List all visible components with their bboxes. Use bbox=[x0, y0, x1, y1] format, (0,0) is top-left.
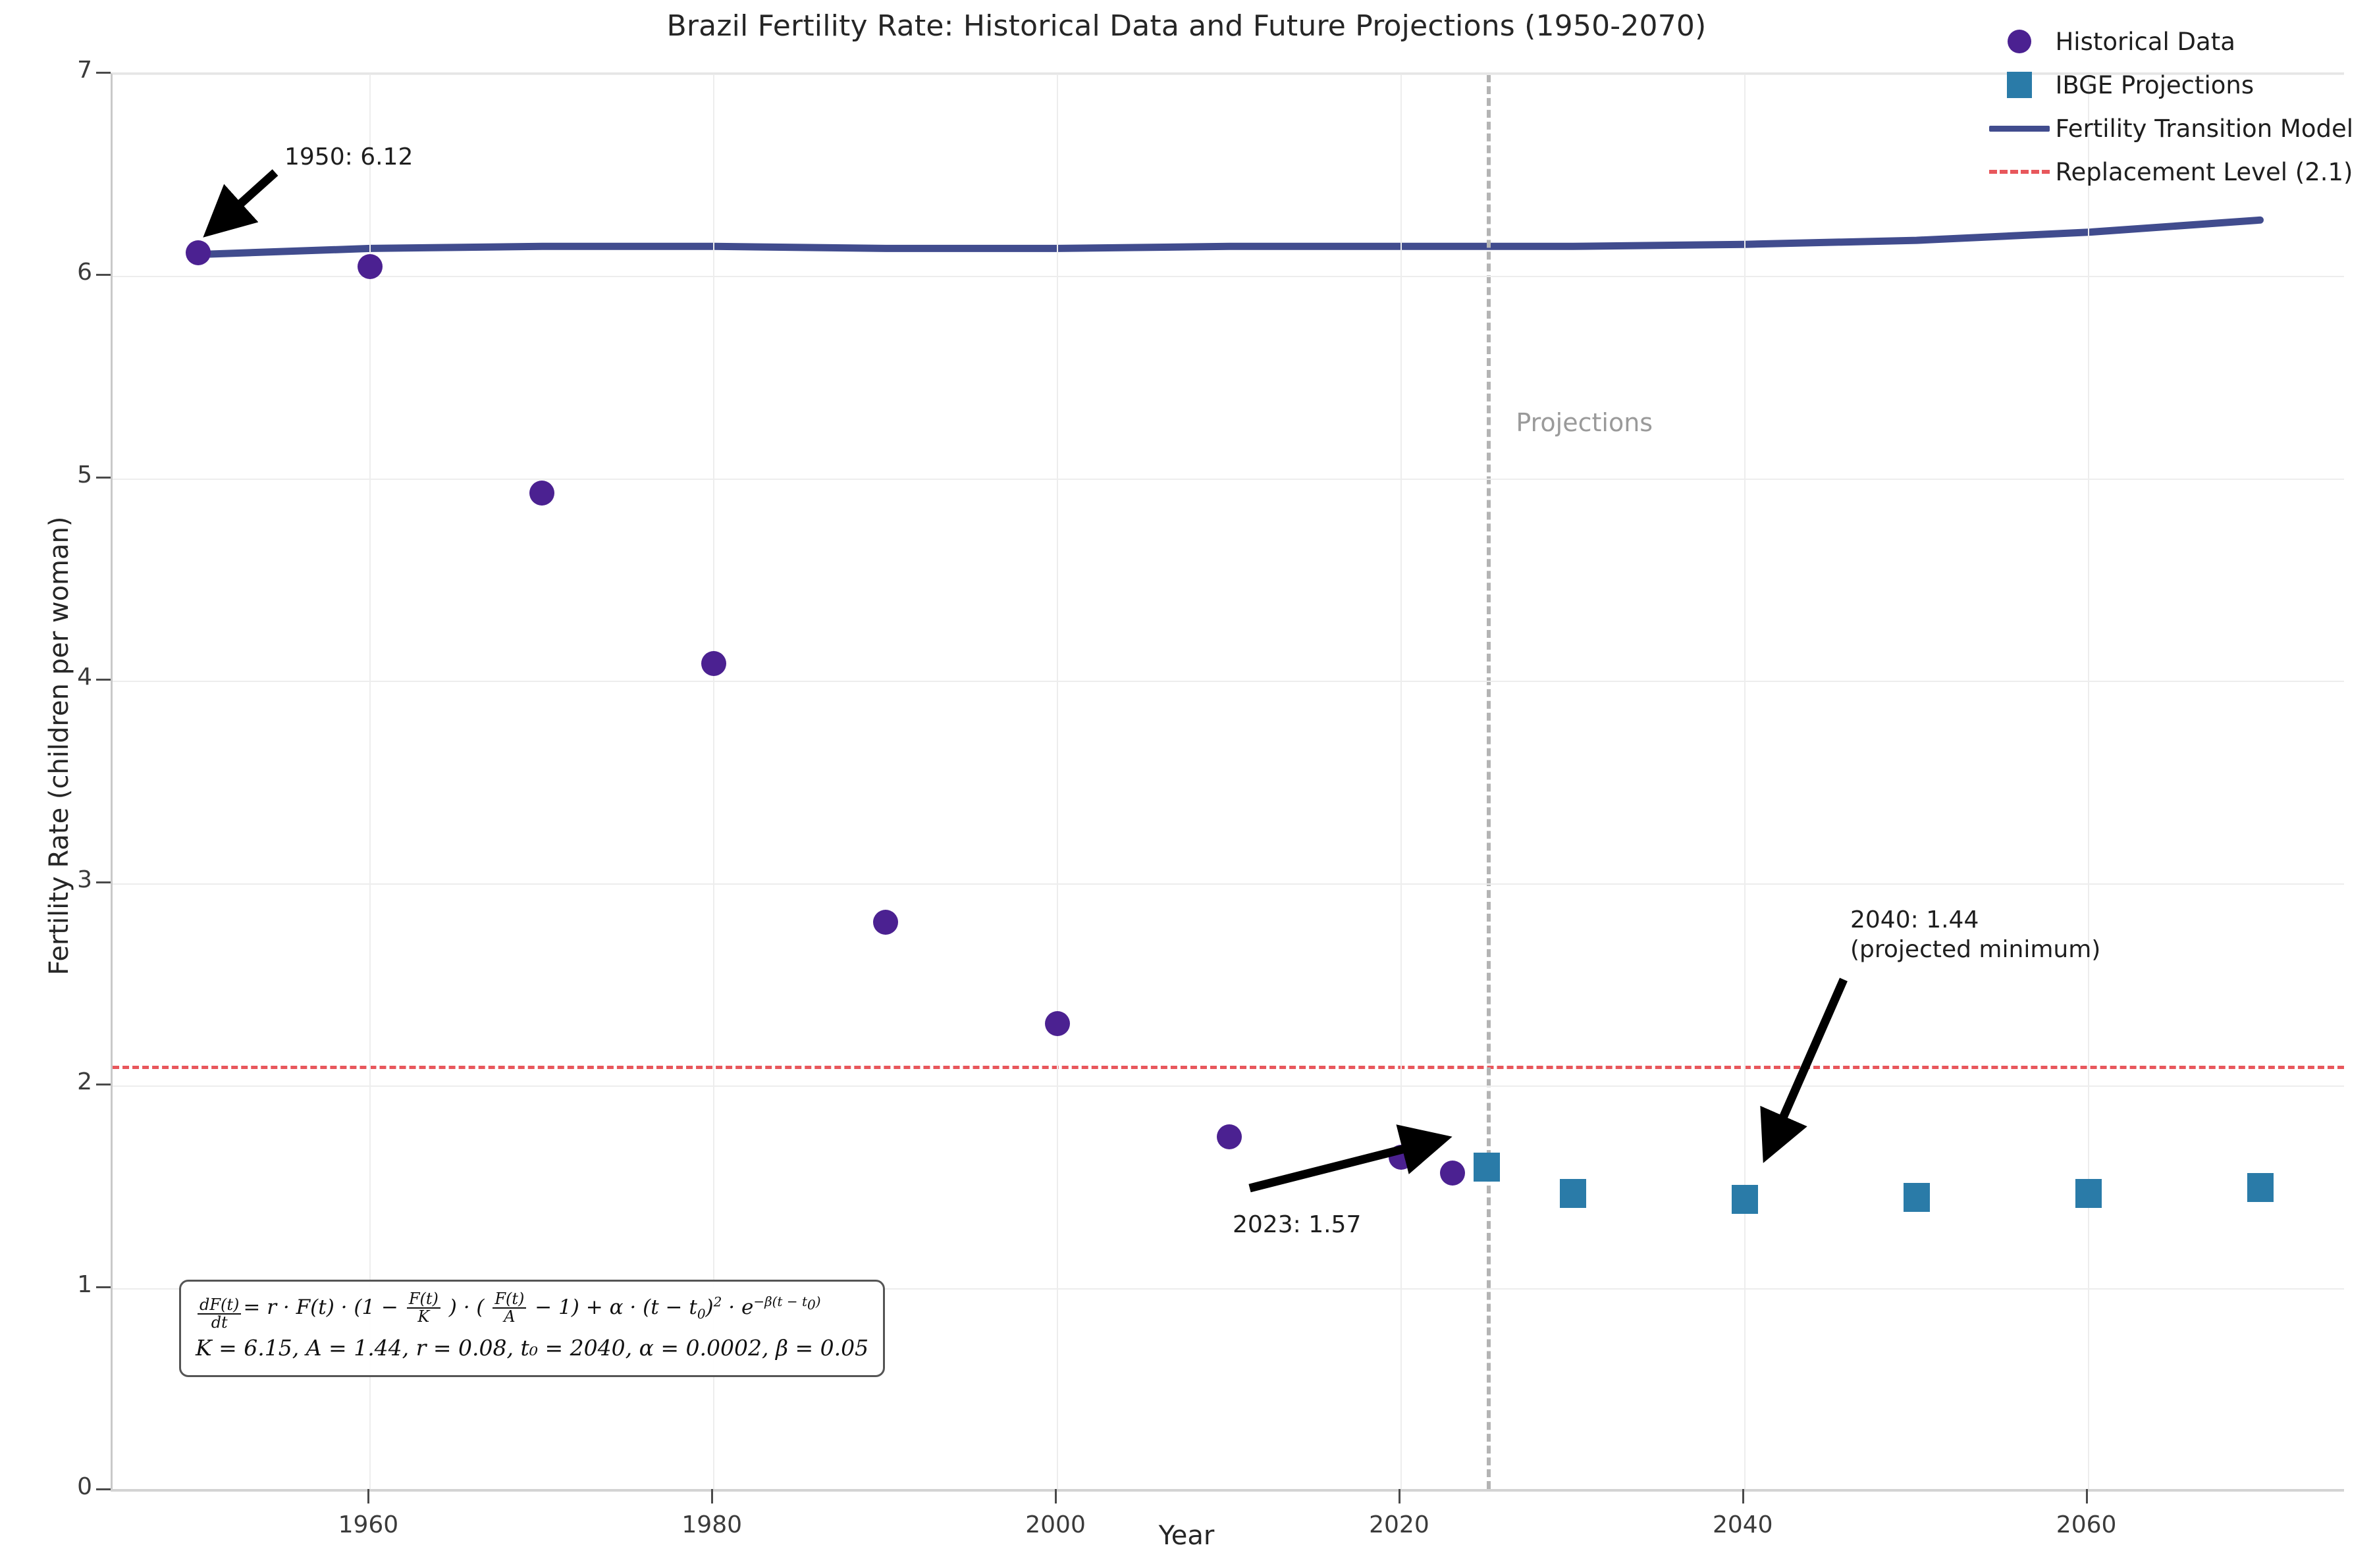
ibge-square-icon bbox=[1984, 72, 2055, 98]
y-tick-mark bbox=[96, 1084, 111, 1085]
gridline-horizontal bbox=[113, 1085, 2344, 1087]
equation-formula-line: dF(t) dt = r · F(t) · (1 − F(t)K ) · ( F… bbox=[196, 1291, 868, 1331]
legend-item-historical[interactable]: Historical Data bbox=[1984, 20, 2353, 63]
x-tick-mark bbox=[711, 1489, 713, 1503]
gridline-vertical bbox=[1057, 74, 1058, 1489]
x-tick-label: 1960 bbox=[302, 1511, 434, 1538]
x-tick-mark bbox=[2086, 1489, 2088, 1503]
legend-item-ibge[interactable]: IBGE Projections bbox=[1984, 63, 2353, 107]
model-line-svg bbox=[113, 74, 2344, 1489]
gridline-horizontal bbox=[113, 681, 2344, 682]
projection-divider-line bbox=[1487, 74, 1491, 1489]
x-axis-spine bbox=[111, 1489, 2344, 1492]
historical-data-point[interactable] bbox=[1045, 1011, 1070, 1036]
annotation-1950-label: 1950: 6.12 bbox=[284, 142, 413, 172]
equation-rhs: = r · F(t) · (1 − F(t)K ) · ( F(t)A − 1)… bbox=[243, 1295, 820, 1319]
x-tick-label: 2040 bbox=[1677, 1511, 1809, 1538]
replacement-level-line bbox=[113, 1066, 2344, 1069]
ibge-projection-point[interactable] bbox=[1560, 1179, 1586, 1208]
y-tick-label: 1 bbox=[40, 1271, 92, 1298]
plot-inner: Projections bbox=[113, 74, 2344, 1489]
y-tick-label: 0 bbox=[40, 1473, 92, 1500]
x-tick-mark bbox=[367, 1489, 369, 1503]
fertility-transition-model-line bbox=[199, 220, 2260, 254]
y-tick-label: 4 bbox=[40, 664, 92, 691]
gridline-vertical bbox=[1400, 74, 1402, 1489]
legend-item-replacement[interactable]: Replacement Level (2.1) bbox=[1984, 150, 2353, 194]
legend-label-historical: Historical Data bbox=[2055, 28, 2235, 56]
ibge-projection-point[interactable] bbox=[2075, 1179, 2102, 1208]
historical-circle-icon bbox=[1984, 30, 2055, 53]
gridline-vertical bbox=[1744, 74, 1746, 1489]
gridline-vertical bbox=[369, 74, 371, 1489]
gridline-horizontal bbox=[113, 479, 2344, 480]
plot-area: Projections bbox=[111, 72, 2344, 1489]
legend-label-ibge: IBGE Projections bbox=[2055, 71, 2254, 99]
y-tick-label: 7 bbox=[40, 57, 92, 84]
y-tick-mark bbox=[96, 477, 111, 479]
y-tick-label: 2 bbox=[40, 1068, 92, 1095]
historical-data-point[interactable] bbox=[1389, 1145, 1414, 1170]
x-tick-label: 2000 bbox=[990, 1511, 1121, 1538]
x-tick-mark bbox=[1055, 1489, 1057, 1503]
historical-data-point[interactable] bbox=[701, 651, 726, 676]
y-tick-label: 6 bbox=[40, 259, 92, 286]
annotation-2040-label: 2040: 1.44 (projected minimum) bbox=[1850, 905, 2100, 964]
legend-label-model: Fertility Transition Model bbox=[2055, 115, 2353, 143]
gridline-horizontal bbox=[113, 276, 2344, 277]
legend-item-model[interactable]: Fertility Transition Model bbox=[1984, 107, 2353, 150]
x-tick-label: 1980 bbox=[646, 1511, 778, 1538]
x-tick-label: 2060 bbox=[2021, 1511, 2152, 1538]
y-tick-mark bbox=[96, 881, 111, 883]
historical-data-point[interactable] bbox=[1217, 1124, 1242, 1149]
historical-data-point[interactable] bbox=[186, 240, 211, 265]
projections-label: Projections bbox=[1516, 408, 1653, 437]
fertility-chart-figure: Brazil Fertility Rate: Historical Data a… bbox=[0, 0, 2373, 1568]
gridline-vertical bbox=[2088, 74, 2089, 1489]
y-tick-mark bbox=[96, 72, 111, 74]
ibge-projection-point[interactable] bbox=[1732, 1185, 1758, 1214]
x-tick-label: 2020 bbox=[1333, 1511, 1465, 1538]
historical-data-point[interactable] bbox=[529, 481, 554, 506]
equation-lhs: dF(t) dt bbox=[198, 1297, 241, 1331]
ibge-projection-point[interactable] bbox=[1904, 1183, 1930, 1212]
replacement-dash-icon bbox=[1984, 170, 2055, 174]
y-tick-label: 3 bbox=[40, 866, 92, 893]
y-tick-mark bbox=[96, 679, 111, 681]
historical-data-point[interactable] bbox=[873, 910, 898, 935]
equation-box: dF(t) dt = r · F(t) · (1 − F(t)K ) · ( F… bbox=[179, 1280, 885, 1377]
y-tick-mark bbox=[96, 1286, 111, 1288]
ibge-projection-point[interactable] bbox=[1474, 1153, 1500, 1182]
equation-parameters: K = 6.15, A = 1.44, r = 0.08, t₀ = 2040,… bbox=[196, 1331, 868, 1365]
model-line-icon bbox=[1984, 126, 2055, 132]
ibge-projection-point[interactable] bbox=[2247, 1173, 2274, 1202]
x-tick-mark bbox=[1742, 1489, 1744, 1503]
gridline-horizontal bbox=[113, 883, 2344, 885]
legend: Historical Data IBGE Projections Fertili… bbox=[1975, 13, 2362, 201]
historical-data-point[interactable] bbox=[358, 254, 383, 279]
y-tick-mark bbox=[96, 1488, 111, 1490]
annotation-2023-label: 2023: 1.57 bbox=[1233, 1210, 1361, 1240]
legend-label-replacement: Replacement Level (2.1) bbox=[2055, 158, 2353, 186]
y-tick-mark bbox=[96, 274, 111, 276]
historical-data-point[interactable] bbox=[1440, 1161, 1465, 1186]
y-tick-label: 5 bbox=[40, 461, 92, 488]
x-tick-mark bbox=[1399, 1489, 1400, 1503]
y-axis-label: Fertility Rate (children per woman) bbox=[44, 318, 74, 1174]
gridline-vertical bbox=[713, 74, 714, 1489]
